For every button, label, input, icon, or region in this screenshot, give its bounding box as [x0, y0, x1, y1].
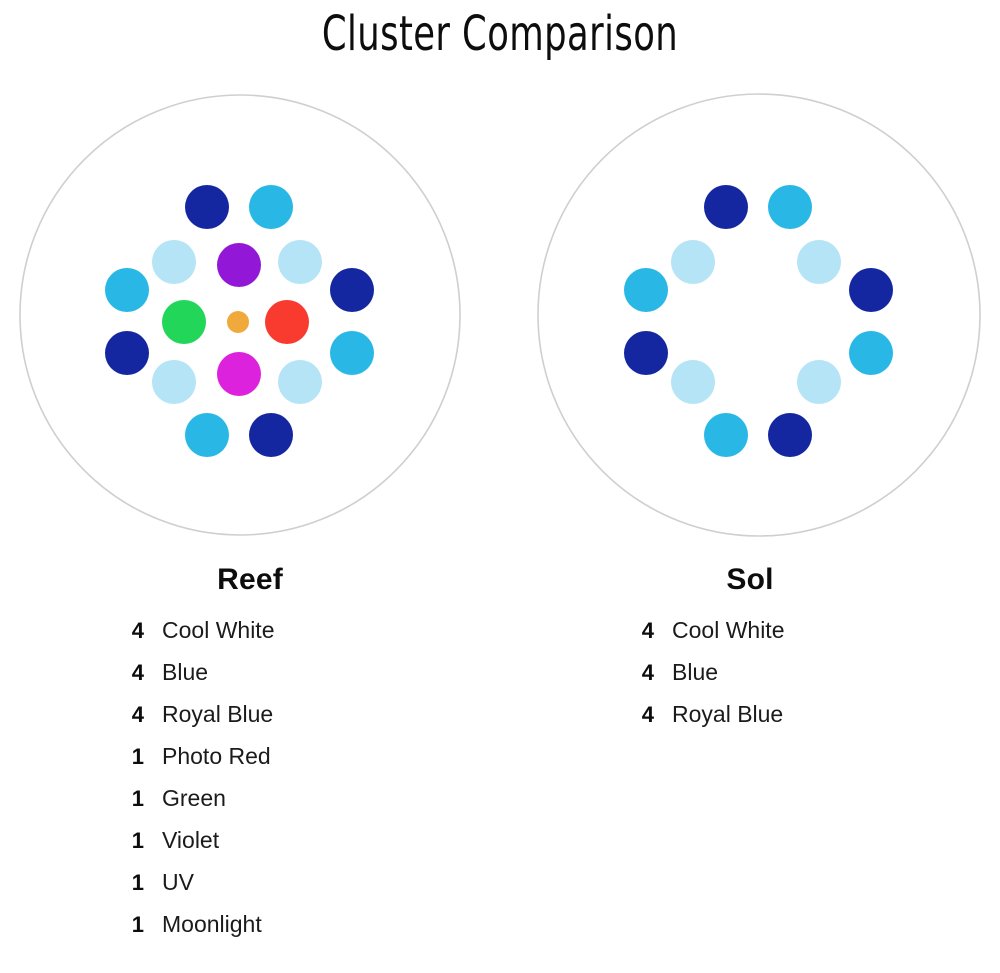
legend-label: Green — [162, 785, 226, 812]
led-blue-s — [185, 413, 229, 457]
legend-row: 4Royal Blue — [0, 701, 500, 743]
cluster-name-reef: Reef — [0, 565, 500, 595]
legend-count: 1 — [130, 912, 144, 938]
led-cool-white-ne — [797, 240, 841, 284]
led-cool-white-sw — [671, 360, 715, 404]
legend-list: 4Cool White4Blue4Royal Blue — [500, 617, 1000, 743]
legend-list: 4Cool White4Blue4Royal Blue1Photo Red1Gr… — [0, 617, 500, 953]
legend-row: 1Green — [0, 785, 500, 827]
led-green-center-w — [162, 300, 206, 344]
led-cool-white-nw — [671, 240, 715, 284]
legend-label: Royal Blue — [672, 701, 783, 728]
led-blue-se — [330, 331, 374, 375]
led-moonlight-center — [227, 311, 249, 333]
led-blue-nne — [768, 185, 812, 229]
led-cool-white-sw — [152, 360, 196, 404]
led-cool-white-se — [278, 360, 322, 404]
legend-label: Cool White — [672, 617, 784, 644]
legend-count: 1 — [130, 870, 144, 896]
legend-row: 4Blue — [500, 659, 1000, 701]
legend-row: 1Violet — [0, 827, 500, 869]
cluster-diagram-sol — [500, 85, 1000, 555]
led-royal-blue-ssw — [768, 413, 812, 457]
legend-label: UV — [162, 869, 194, 896]
led-blue-nne — [249, 185, 293, 229]
cluster-panel-sol: Sol 4Cool White4Blue4Royal Blue — [500, 0, 1000, 973]
legend-count: 1 — [130, 828, 144, 854]
led-cool-white-nw — [152, 240, 196, 284]
legend-label: Royal Blue — [162, 701, 273, 728]
led-cool-white-ne — [278, 240, 322, 284]
cluster-name-sol: Sol — [500, 565, 1000, 595]
legend-reef: Reef 4Cool White4Blue4Royal Blue1Photo R… — [0, 565, 500, 953]
legend-count: 4 — [640, 702, 654, 728]
led-royal-blue-e — [330, 268, 374, 312]
cluster-outer-ring — [538, 94, 980, 536]
legend-count: 4 — [640, 660, 654, 686]
led-royal-blue-e — [849, 268, 893, 312]
legend-label: Blue — [162, 659, 208, 686]
legend-row: 1Moonlight — [0, 911, 500, 953]
led-royal-blue-sw — [105, 331, 149, 375]
legend-label: Moonlight — [162, 911, 262, 938]
legend-label: Cool White — [162, 617, 274, 644]
led-uv-center-s — [217, 352, 261, 396]
led-royal-blue-sw — [624, 331, 668, 375]
led-blue-se — [849, 331, 893, 375]
legend-label: Violet — [162, 827, 219, 854]
legend-sol: Sol 4Cool White4Blue4Royal Blue — [500, 565, 1000, 743]
legend-row: 1Photo Red — [0, 743, 500, 785]
led-royal-blue-n — [704, 185, 748, 229]
led-royal-blue-n — [185, 185, 229, 229]
legend-row: 4Blue — [0, 659, 500, 701]
legend-count: 4 — [640, 618, 654, 644]
legend-count: 1 — [130, 744, 144, 770]
legend-count: 4 — [130, 618, 144, 644]
led-royal-blue-ssw — [249, 413, 293, 457]
led-violet-center-n — [217, 243, 261, 287]
led-cool-white-se — [797, 360, 841, 404]
legend-row: 4Cool White — [0, 617, 500, 659]
led-blue-w — [624, 268, 668, 312]
legend-row: 4Royal Blue — [500, 701, 1000, 743]
legend-count: 4 — [130, 702, 144, 728]
legend-label: Blue — [672, 659, 718, 686]
led-blue-w — [105, 268, 149, 312]
legend-count: 4 — [130, 660, 144, 686]
legend-count: 1 — [130, 786, 144, 812]
cluster-panel-reef: Reef 4Cool White4Blue4Royal Blue1Photo R… — [0, 0, 500, 973]
legend-row: 1UV — [0, 869, 500, 911]
legend-label: Photo Red — [162, 743, 271, 770]
led-photo-red-center-e — [265, 300, 309, 344]
cluster-svg-sol — [500, 85, 1000, 555]
led-blue-s — [704, 413, 748, 457]
cluster-svg-reef — [0, 85, 500, 555]
legend-row: 4Cool White — [500, 617, 1000, 659]
cluster-diagram-reef — [0, 85, 500, 555]
